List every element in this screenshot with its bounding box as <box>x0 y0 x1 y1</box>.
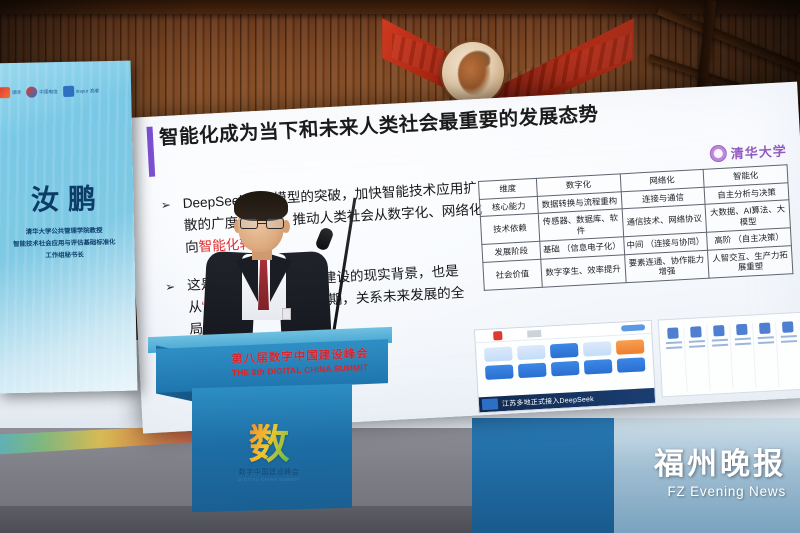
table-body: 核心能力 数据转换与流程重构 连接与通信 自主分析与决策 技术依赖 传感器、数据… <box>479 182 792 290</box>
feature-label <box>688 340 704 343</box>
sponsor-label: 中国电信 <box>39 89 58 95</box>
feature-column <box>662 327 687 393</box>
table-cell: 数字孪生、效率提升 <box>541 254 626 286</box>
speaker-titles: 清华大学公共管理学院教授 智能技术社会应用与评估基础标准化 工作组秘书长 <box>0 225 129 263</box>
app-icon <box>616 339 645 354</box>
app-icon <box>617 357 646 372</box>
sponsor-logo: 顺丰 <box>0 87 21 98</box>
feature-label <box>758 341 774 344</box>
news-app-logo-icon <box>493 331 502 340</box>
feature-icon <box>667 327 679 339</box>
slide-media-row: 江苏多地正式接入DeepSeek <box>474 312 800 414</box>
sponsor-logo-row: 顺丰 中国电信 inspur 浪潮 <box>0 85 99 98</box>
name-badge <box>282 308 291 320</box>
glasses-icon <box>240 218 284 229</box>
news-app-title <box>527 330 541 338</box>
app-icon <box>583 341 612 356</box>
sponsor-logo: inspur 浪潮 <box>63 85 99 97</box>
feature-label <box>689 345 705 348</box>
feature-icon <box>690 326 702 338</box>
bullet-arrow-icon: ➢ <box>165 278 176 298</box>
bullet-arrow-icon: ➢ <box>160 196 171 216</box>
watermark-cn: 福州晚报 <box>654 439 786 483</box>
tsinghua-seal-icon <box>709 145 727 163</box>
table-cell: 社会价值 <box>483 259 542 290</box>
speaker-banner: 顺丰 中国电信 inspur 浪潮 汝鹏 清华大学公共管理学院教授 智能技术社会… <box>0 61 137 394</box>
feature-label <box>781 340 797 343</box>
sponsor-mark-2-icon <box>26 87 37 98</box>
table-cell: 技术依赖 <box>480 213 539 244</box>
sponsor-mark-1-icon <box>0 87 10 98</box>
university-logo: 清华大学 <box>709 140 787 163</box>
comparison-table: 维度 数字化 网络化 智能化 核心能力 数据转换与流程重构 连接与通信 自主分析… <box>478 164 793 290</box>
feature-icon <box>713 325 725 337</box>
stage-panel-blue <box>472 418 614 533</box>
watermark: 福州晚报 FZ Evening News <box>654 439 786 499</box>
feature-label <box>735 343 751 346</box>
sponsor-label: 顺丰 <box>12 89 21 95</box>
app-icon <box>485 364 514 379</box>
sponsor-logo: 中国电信 <box>26 86 58 98</box>
app-icon <box>518 363 547 378</box>
news-caption-text: 江苏多地正式接入DeepSeek <box>502 394 594 409</box>
feature-icon <box>759 322 771 334</box>
lens-left <box>240 218 258 229</box>
news-channel-chip-icon <box>482 398 499 410</box>
feature-label <box>666 346 682 349</box>
feature-column <box>731 323 756 389</box>
emblem-glyph: 数 <box>214 424 324 465</box>
title-accent-bar <box>147 127 156 177</box>
feature-column <box>777 321 800 387</box>
feature-label <box>712 344 728 347</box>
table-cell: 人智交互、生产力拓展重塑 <box>708 245 793 277</box>
feature-panel <box>658 312 800 398</box>
feature-label <box>757 336 773 339</box>
hair <box>234 191 288 221</box>
app-icon <box>517 345 546 360</box>
feature-icon <box>736 324 748 336</box>
feature-label <box>711 339 727 342</box>
sponsor-label: inspur 浪潮 <box>76 88 99 94</box>
portrait-medallion-icon <box>442 42 504 104</box>
medallion-face <box>458 53 490 95</box>
glasses-bridge <box>258 223 266 224</box>
emblem-label-en: DIGITAL CHINA SUMMIT <box>214 477 324 482</box>
watermark-en: FZ Evening News <box>654 484 786 499</box>
sponsor-mark-3-icon <box>63 86 74 97</box>
university-name: 清华大学 <box>730 140 787 162</box>
news-app-button <box>621 324 645 331</box>
feature-column <box>685 326 710 392</box>
emblem-label-cn: 数字中国建设峰会 <box>214 467 324 477</box>
summit-emblem: 数 数字中国建设峰会 DIGITAL CHINA SUMMIT <box>214 424 324 482</box>
feature-label <box>780 335 796 338</box>
feature-label <box>665 341 681 344</box>
feature-label <box>734 338 750 341</box>
speaker-name: 汝鹏 <box>0 177 134 220</box>
feature-icon <box>782 321 794 333</box>
podium: 第八届数字中国建设峰会 THE 8th DIGITAL CHINA SUMMIT… <box>148 332 392 510</box>
feature-column <box>754 322 779 388</box>
news-screenshot: 江苏多地正式接入DeepSeek <box>474 320 656 414</box>
screenshot-root: 智能化成为当下和未来人类社会最重要的发展态势 清华大学 ➢ DeepSeek等大… <box>0 0 800 533</box>
table-cell: 要素连通、协作能力增强 <box>624 250 709 282</box>
app-icon <box>584 359 613 374</box>
feature-column <box>708 325 733 391</box>
app-icon <box>484 346 513 361</box>
app-icon <box>551 361 580 376</box>
app-icon <box>550 343 579 358</box>
lens-right <box>266 218 284 229</box>
